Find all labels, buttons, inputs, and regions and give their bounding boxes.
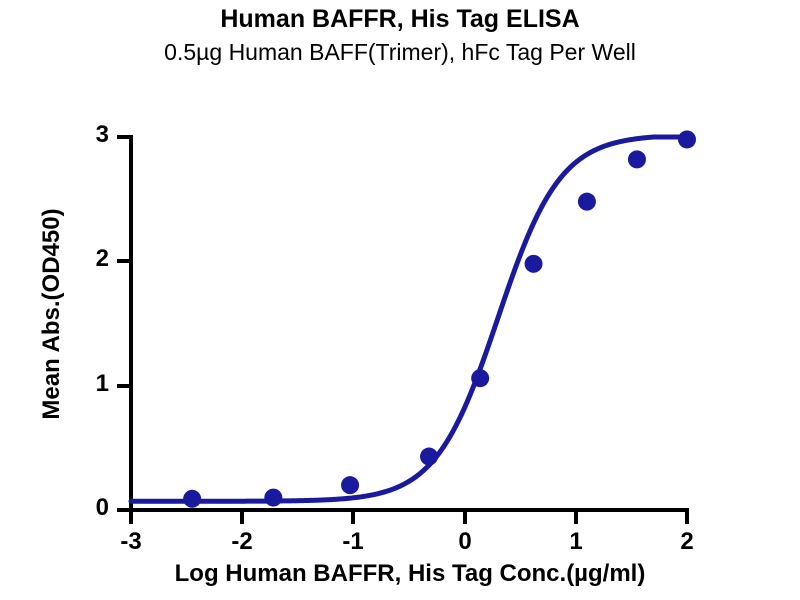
data-point	[678, 130, 696, 148]
sigmoid-fit-path	[131, 137, 687, 501]
data-point	[471, 369, 489, 387]
data-point	[264, 489, 282, 507]
y-tick-label-2: 2	[69, 245, 109, 273]
x-tick-label-4: 1	[546, 528, 606, 556]
x-tick-label-2: -1	[323, 528, 383, 556]
data-point	[183, 490, 201, 508]
y-tick-label-1: 1	[69, 370, 109, 398]
axes	[117, 135, 689, 524]
x-tick-label-1: -2	[212, 528, 272, 556]
plot-area	[0, 0, 800, 600]
data-point	[525, 255, 543, 273]
elisa-chart-figure: Human BAFFR, His Tag ELISA 0.5µg Human B…	[0, 0, 800, 600]
data-point	[628, 150, 646, 168]
y-tick-label-0: 0	[69, 494, 109, 522]
fit-curve	[131, 137, 687, 501]
data-point	[341, 476, 359, 494]
y-tick-label-3: 3	[69, 121, 109, 149]
x-tick-label-5: 2	[657, 528, 717, 556]
data-point	[578, 193, 596, 211]
x-tick-label-0: -3	[101, 528, 161, 556]
data-point	[420, 448, 438, 466]
x-tick-label-3: 0	[435, 528, 495, 556]
